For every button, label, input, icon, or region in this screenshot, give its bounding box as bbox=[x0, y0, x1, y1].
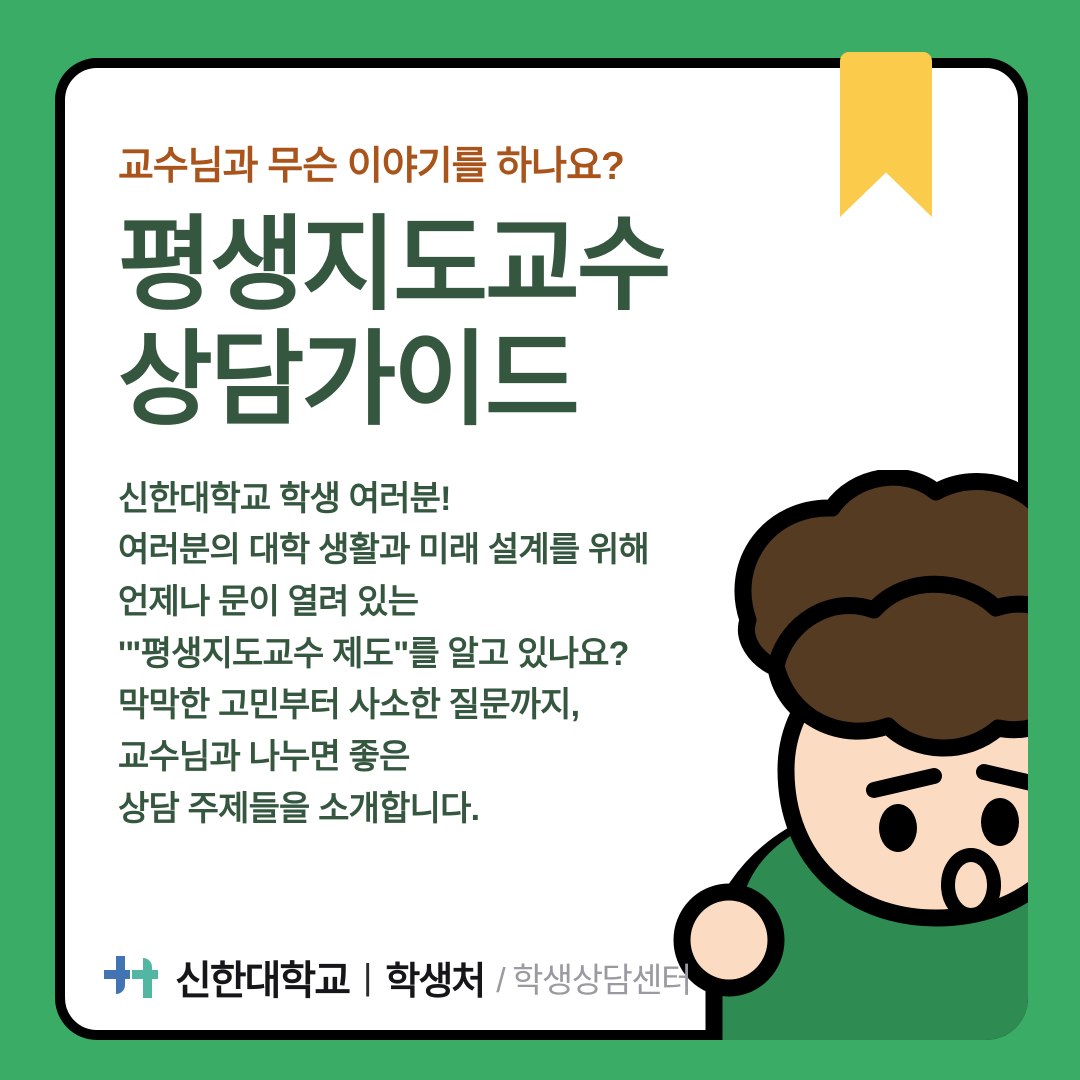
body-line: 언제나 문이 열려 있는 bbox=[118, 577, 838, 629]
poster-canvas: 교수님과 무슨 이야기를 하나요? 평생지도교수 상담가이드 신한대학교 학생 … bbox=[0, 0, 1080, 1080]
body-line: 여러분의 대학 생활과 미래 설계를 위해 bbox=[118, 525, 838, 577]
footer-divider: | bbox=[363, 959, 372, 995]
eyebrow-heading: 교수님과 무슨 이야기를 하나요? bbox=[118, 146, 838, 189]
body-line: 신한대학교 학생 여러분! bbox=[118, 474, 838, 526]
footer-logo-lockup: 신한대학교 | 학생처 / 학생상담센터 bbox=[103, 948, 691, 1006]
body-line: '"평생지도교수 제도"를 알고 있나요? bbox=[118, 629, 838, 681]
body-copy: 신한대학교 학생 여러분! 여러분의 대학 생활과 미래 설계를 위해 언제나 … bbox=[118, 474, 838, 836]
body-line: 상담 주제들을 소개합니다. bbox=[118, 784, 838, 836]
page-title: 평생지도교수 상담가이드 bbox=[118, 207, 838, 438]
shinhan-university-logo-icon bbox=[103, 952, 159, 1002]
footer-university-name: 신한대학교 bbox=[175, 948, 349, 1006]
title-line-2: 상담가이드 bbox=[118, 322, 838, 437]
body-line: 교수님과 나누면 좋은 bbox=[118, 732, 838, 784]
text-block: 교수님과 무슨 이야기를 하나요? 평생지도교수 상담가이드 신한대학교 학생 … bbox=[118, 146, 838, 835]
footer-department-name: 학생처 bbox=[385, 950, 484, 1005]
body-line: 막막한 고민부터 사소한 질문까지, bbox=[118, 680, 838, 732]
title-line-1: 평생지도교수 bbox=[118, 207, 838, 322]
footer-center-name: / 학생상담센터 bbox=[496, 953, 691, 1002]
